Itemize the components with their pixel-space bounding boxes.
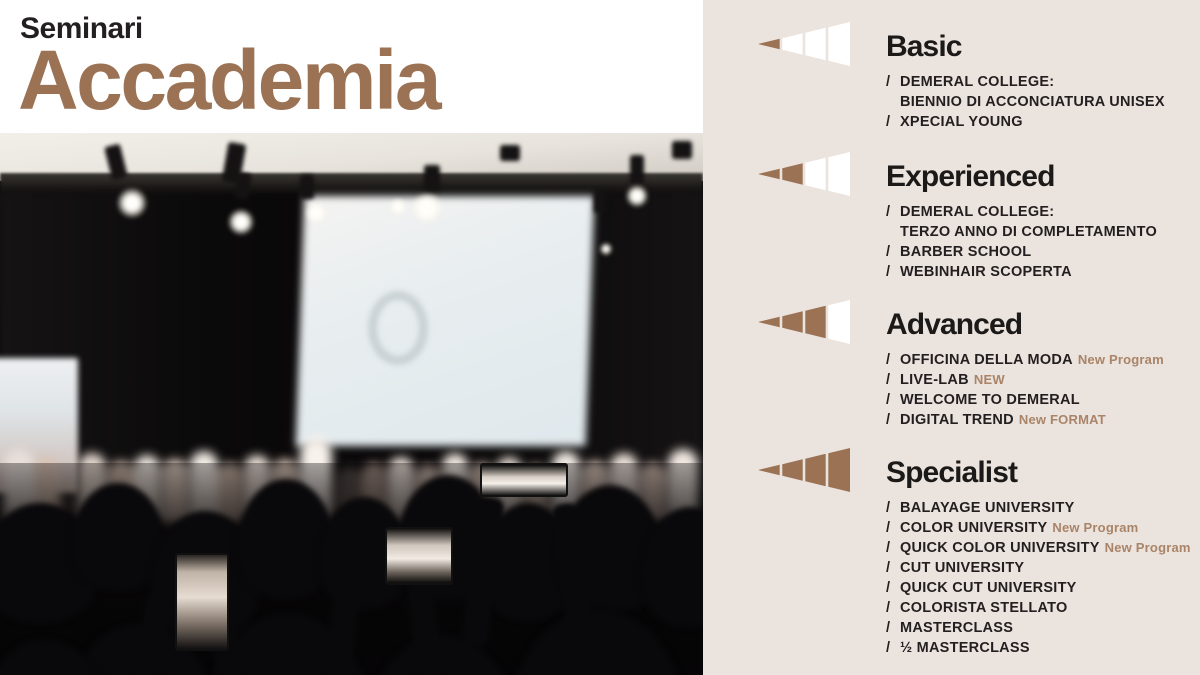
light-fixture [500, 145, 520, 161]
bullet-slash-icon: / [886, 262, 900, 282]
course-item[interactable]: /WEBINHAIR SCOPERTA [886, 262, 1157, 282]
course-label: OFFICINA DELLA MODA [900, 352, 1073, 368]
course-label: QUICK CUT UNIVERSITY [900, 580, 1077, 596]
level-arrow-wrap [758, 22, 850, 71]
course-item[interactable]: /COLORISTA STELLATO [886, 598, 1191, 618]
section-title: Specialist [886, 458, 1017, 488]
stage-lamp [390, 199, 406, 215]
bullet-slash-icon: / [886, 390, 900, 410]
course-badge: New FORMAT [1019, 412, 1106, 427]
stage-lamp [228, 209, 254, 235]
stage-lamp [412, 193, 442, 223]
bullet-slash-icon: / [886, 618, 900, 638]
light-fixture [424, 165, 440, 191]
course-label: WELCOME TO DEMERAL [900, 392, 1080, 408]
course-item[interactable]: /MASTERCLASS [886, 618, 1191, 638]
course-badge: NEW [974, 372, 1005, 387]
course-item[interactable]: /XPECIAL YOUNG [886, 112, 1165, 132]
level-arrow-1-of-4 [758, 22, 850, 66]
right-panel: Basic/DEMERAL COLLEGE:BIENNIO DI ACCONCI… [703, 0, 1200, 675]
course-label: BALAYAGE UNIVERSITY [900, 500, 1075, 516]
phone-screen [175, 553, 229, 651]
course-item[interactable]: /DEMERAL COLLEGE: [886, 72, 1165, 92]
seminar-photo [0, 133, 703, 675]
light-fixture [300, 175, 314, 199]
level-arrow-wrap [758, 300, 850, 349]
course-label: DEMERAL COLLEGE: [900, 204, 1054, 220]
course-item[interactable]: /BARBER SCHOOL [886, 242, 1157, 262]
screen-logo-icon [368, 291, 428, 365]
course-label: TERZO ANNO DI COMPLETAMENTO [900, 224, 1157, 240]
bullet-slash-icon: / [886, 242, 900, 262]
stage-lamp [600, 243, 612, 255]
course-list: /OFFICINA DELLA MODANew Program/LIVE-LAB… [886, 350, 1164, 430]
course-label: QUICK COLOR UNIVERSITY [900, 540, 1100, 556]
course-item[interactable]: /½ MASTERCLASS [886, 638, 1191, 658]
light-fixture [594, 191, 606, 213]
title-block: Seminari Accademia [0, 0, 703, 133]
course-label: WEBINHAIR SCOPERTA [900, 264, 1072, 280]
course-label: COLORISTA STELLATO [900, 600, 1067, 616]
level-arrow-wrap [758, 152, 850, 201]
stage-lamp [626, 185, 648, 207]
bullet-slash-icon: / [886, 538, 900, 558]
course-item[interactable]: /LIVE-LABNEW [886, 370, 1164, 390]
course-list: /DEMERAL COLLEGE:BIENNIO DI ACCONCIATURA… [886, 72, 1165, 132]
bullet-slash-icon: / [886, 638, 900, 658]
left-column: Seminari Accademia [0, 0, 703, 675]
light-fixture [672, 141, 692, 159]
section-title: Advanced [886, 310, 1022, 340]
course-list: /DEMERAL COLLEGE:TERZO ANNO DI COMPLETAM… [886, 202, 1157, 282]
course-item[interactable]: /QUICK CUT UNIVERSITY [886, 578, 1191, 598]
bullet-slash-icon: / [886, 518, 900, 538]
light-fixture [630, 155, 644, 185]
course-item[interactable]: BIENNIO DI ACCONCIATURA UNISEX [886, 92, 1165, 112]
course-label: COLOR UNIVERSITY [900, 520, 1047, 536]
level-arrow-3-of-4 [758, 300, 850, 344]
course-list: /BALAYAGE UNIVERSITY/COLOR UNIVERSITYNew… [886, 498, 1191, 658]
course-label: BIENNIO DI ACCONCIATURA UNISEX [900, 94, 1165, 110]
course-label: ½ MASTERCLASS [900, 640, 1030, 656]
page-title: Accademia [18, 38, 439, 122]
course-item[interactable]: /DIGITAL TRENDNew FORMAT [886, 410, 1164, 430]
audience-silhouette-layer [0, 463, 703, 675]
bullet-slash-icon: / [886, 498, 900, 518]
level-arrow-wrap [758, 448, 850, 497]
course-item[interactable]: /COLOR UNIVERSITYNew Program [886, 518, 1191, 538]
course-item[interactable]: /BALAYAGE UNIVERSITY [886, 498, 1191, 518]
stage-lamp [117, 188, 147, 218]
course-item[interactable]: /QUICK COLOR UNIVERSITYNew Program [886, 538, 1191, 558]
section-title: Experienced [886, 162, 1055, 192]
phone-screen [480, 463, 568, 497]
course-label: XPECIAL YOUNG [900, 114, 1023, 130]
bullet-slash-icon: / [886, 578, 900, 598]
bullet-slash-icon: / [886, 558, 900, 578]
bullet-slash-icon: / [886, 350, 900, 370]
course-label: BARBER SCHOOL [900, 244, 1031, 260]
bullet-slash-icon: / [886, 598, 900, 618]
bullet-slash-icon: / [886, 112, 900, 132]
slide-root: Seminari Accademia [0, 0, 1200, 675]
bullet-slash-icon: / [886, 370, 900, 390]
course-badge: New Program [1078, 352, 1164, 367]
level-arrow-4-of-4 [758, 448, 850, 492]
course-label: DIGITAL TREND [900, 412, 1014, 428]
section-title: Basic [886, 32, 962, 62]
bullet-slash-icon: / [886, 72, 900, 92]
course-badge: New Program [1052, 520, 1138, 535]
bullet-slash-icon: / [886, 410, 900, 430]
course-label: DEMERAL COLLEGE: [900, 74, 1054, 90]
phone-screen [385, 527, 453, 585]
stage-lamp [306, 203, 326, 223]
level-arrow-2-of-4 [758, 152, 850, 196]
course-item[interactable]: /WELCOME TO DEMERAL [886, 390, 1164, 410]
course-label: MASTERCLASS [900, 620, 1013, 636]
course-label: LIVE-LAB [900, 372, 969, 388]
course-item[interactable]: /CUT UNIVERSITY [886, 558, 1191, 578]
bullet-slash-icon: / [886, 202, 900, 222]
course-item[interactable]: /DEMERAL COLLEGE: [886, 202, 1157, 222]
course-badge: New Program [1105, 540, 1191, 555]
course-item[interactable]: TERZO ANNO DI COMPLETAMENTO [886, 222, 1157, 242]
course-label: CUT UNIVERSITY [900, 560, 1024, 576]
course-item[interactable]: /OFFICINA DELLA MODANew Program [886, 350, 1164, 370]
